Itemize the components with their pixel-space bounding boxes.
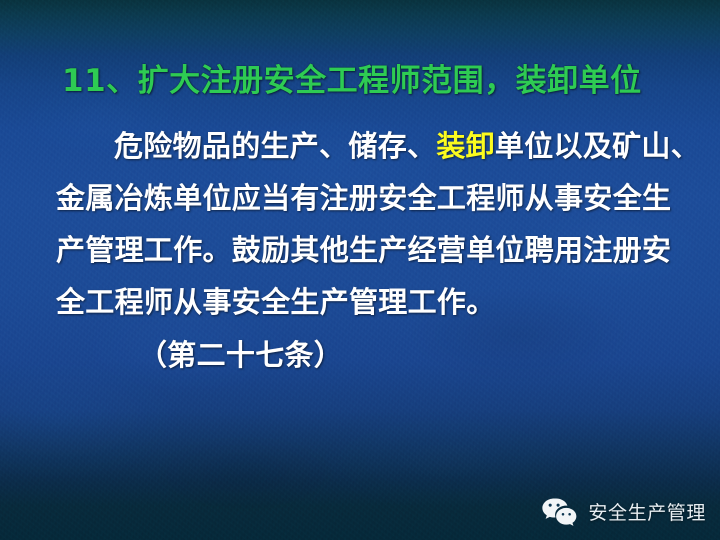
body-line-3: 产管理工作。鼓励其他生产经营单位聘用注册安 (56, 224, 686, 276)
watermark: 安全生产管理 (540, 496, 706, 526)
body-line-1-highlight: 装卸 (436, 129, 495, 163)
watermark-label: 安全生产管理 (588, 498, 706, 525)
page-title: 11、扩大注册安全工程师范围，装卸单位 (62, 63, 642, 100)
body-line-2: 金属冶炼单位应当有注册安全工程师从事安全生 (56, 172, 686, 224)
body-line-1-post: 单位以及矿山、 (495, 129, 700, 163)
body-line-1-pre: 危险物品的生产、储存、 (114, 129, 436, 163)
body-line-4: 全工程师从事安全生产管理工作。 (56, 276, 686, 328)
article-citation: （第二十七条） (56, 332, 343, 374)
wechat-icon (540, 496, 580, 526)
body-paragraph: 危险物品的生产、储存、装卸单位以及矿山、 金属冶炼单位应当有注册安全工程师从事安… (56, 120, 686, 328)
body-line-1: 危险物品的生产、储存、装卸单位以及矿山、 (56, 120, 686, 172)
slide-canvas: 11、扩大注册安全工程师范围，装卸单位 危险物品的生产、储存、装卸单位以及矿山、… (0, 0, 720, 540)
